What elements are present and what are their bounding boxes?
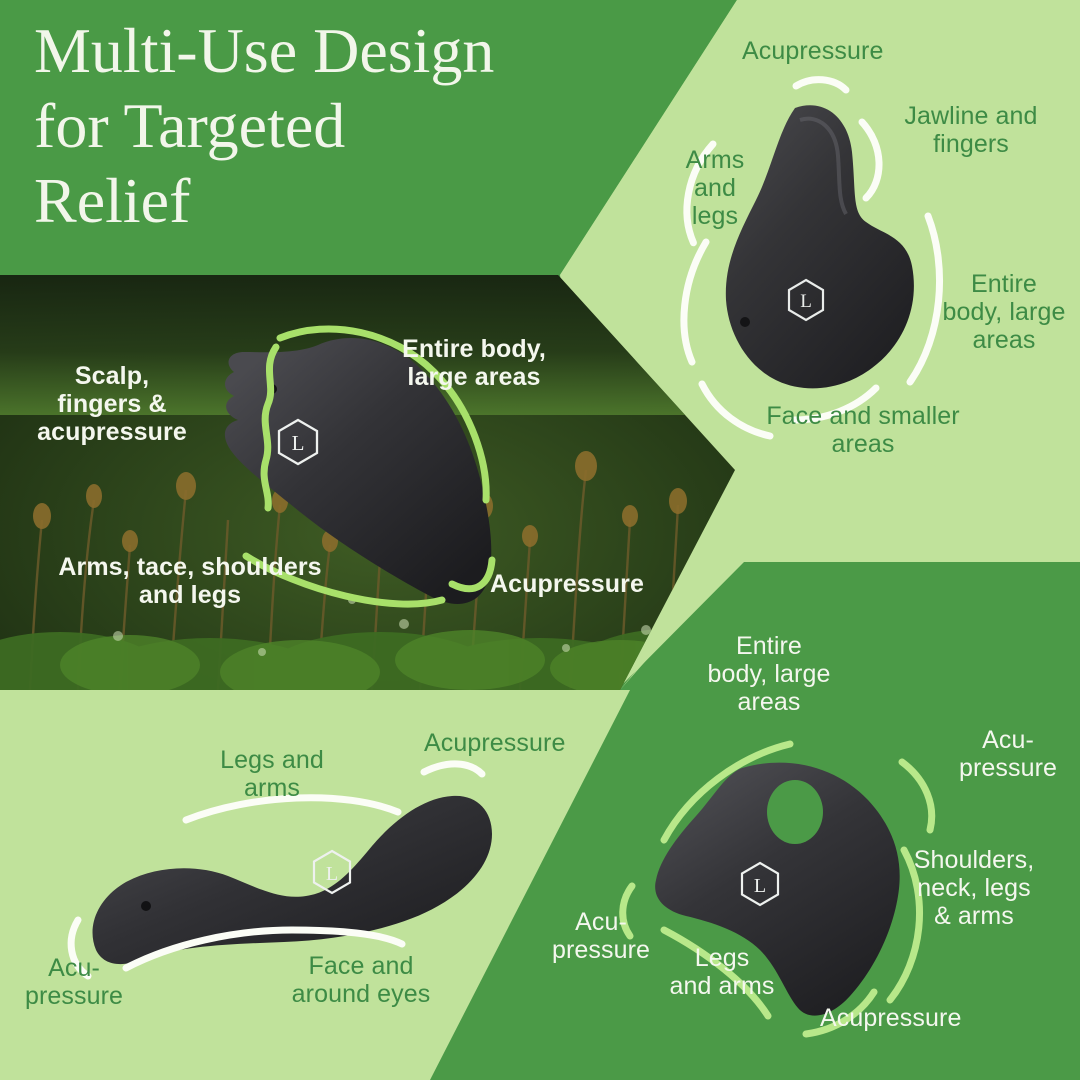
- label-photo-entire-body: Entire body, large areas: [390, 335, 558, 391]
- label-bl-legs-and-arms: Legs and arms: [206, 746, 338, 802]
- svg-text:L: L: [326, 863, 338, 885]
- label-bl-face-around-eyes: Face and around eyes: [278, 952, 444, 1008]
- svg-text:L: L: [800, 291, 812, 312]
- svg-text:L: L: [292, 431, 305, 455]
- page-title-line-1: Multi-Use Design: [34, 14, 654, 89]
- label-tr-arms-and-legs: Arms and legs: [673, 146, 757, 230]
- label-photo-scalp-fingers: Scalp, fingers & acupressure: [22, 362, 202, 446]
- page-title: Multi-Use Design for Targeted Relief: [34, 14, 654, 239]
- label-photo-acupressure: Acupressure: [490, 570, 644, 598]
- label-tr-jawline-fingers: Jawline and fingers: [888, 102, 1054, 158]
- label-photo-arms-face-shoulders: Arms, tace, shoulders and legs: [53, 553, 327, 609]
- label-tr-face-smaller: Face and smaller areas: [754, 402, 972, 458]
- label-br-shoulders-neck: Shoulders, neck, legs & arms: [893, 846, 1055, 930]
- label-br-acupressure-right: Acu- pressure: [950, 726, 1066, 782]
- page-title-line-2: for Targeted: [34, 89, 654, 164]
- label-br-acupressure-left: Acu- pressure: [546, 908, 656, 964]
- label-bl-acupressure-top: Acupressure: [424, 729, 565, 757]
- svg-text:L: L: [754, 875, 766, 897]
- label-bl-acupressure-left: Acu- pressure: [16, 954, 132, 1010]
- label-br-entire-body: Entire body, large areas: [698, 632, 840, 716]
- label-tr-entire-body: Entire body, large areas: [933, 270, 1075, 354]
- page-title-line-3: Relief: [34, 164, 654, 239]
- label-tr-acupressure-top: Acupressure: [742, 37, 883, 65]
- label-br-acupressure-bottom: Acupressure: [820, 1004, 961, 1032]
- label-br-legs-and-arms: Legs and arms: [660, 944, 784, 1000]
- infographic-canvas: L L: [0, 0, 1080, 1080]
